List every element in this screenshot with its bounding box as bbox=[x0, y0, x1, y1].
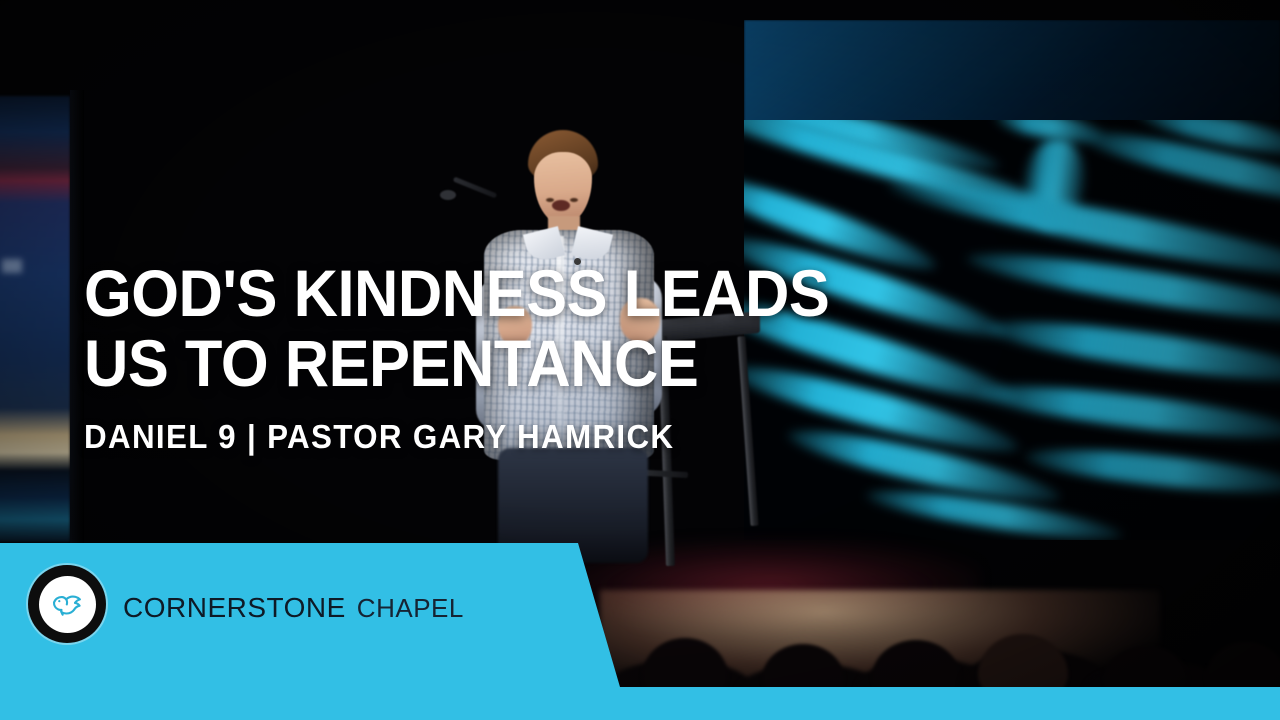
left-side-screen-panel bbox=[0, 96, 70, 542]
left-panel-edge bbox=[70, 90, 84, 550]
logo-wordmark: Cornerstone Chapel bbox=[123, 584, 464, 624]
audience-head bbox=[1104, 646, 1188, 702]
screen-upper-glow bbox=[744, 20, 1280, 128]
speaker-face bbox=[534, 152, 592, 224]
video-thumbnail-frame: GOD'S KINDNESS LEADS US TO REPENTANCE DA… bbox=[0, 0, 1280, 720]
logo-word-primary: Cornerstone bbox=[123, 584, 346, 624]
dove-emblem-icon bbox=[28, 565, 106, 643]
sermon-reference-and-speaker: DANIEL 9 | PASTOR GARY HAMRICK bbox=[84, 418, 1015, 456]
title-overlay: GOD'S KINDNESS LEADS US TO REPENTANCE DA… bbox=[84, 258, 1064, 456]
microphone-icon bbox=[440, 190, 456, 200]
title-line-1: GOD'S KINDNESS LEADS bbox=[84, 258, 995, 328]
speaker-mouth bbox=[552, 200, 570, 211]
audience-head bbox=[1206, 642, 1280, 702]
cornerstone-chapel-logo[interactable]: Cornerstone Chapel bbox=[28, 565, 464, 643]
logo-word-secondary: Chapel bbox=[357, 586, 464, 623]
title-line-2: US TO REPENTANCE bbox=[84, 328, 995, 398]
